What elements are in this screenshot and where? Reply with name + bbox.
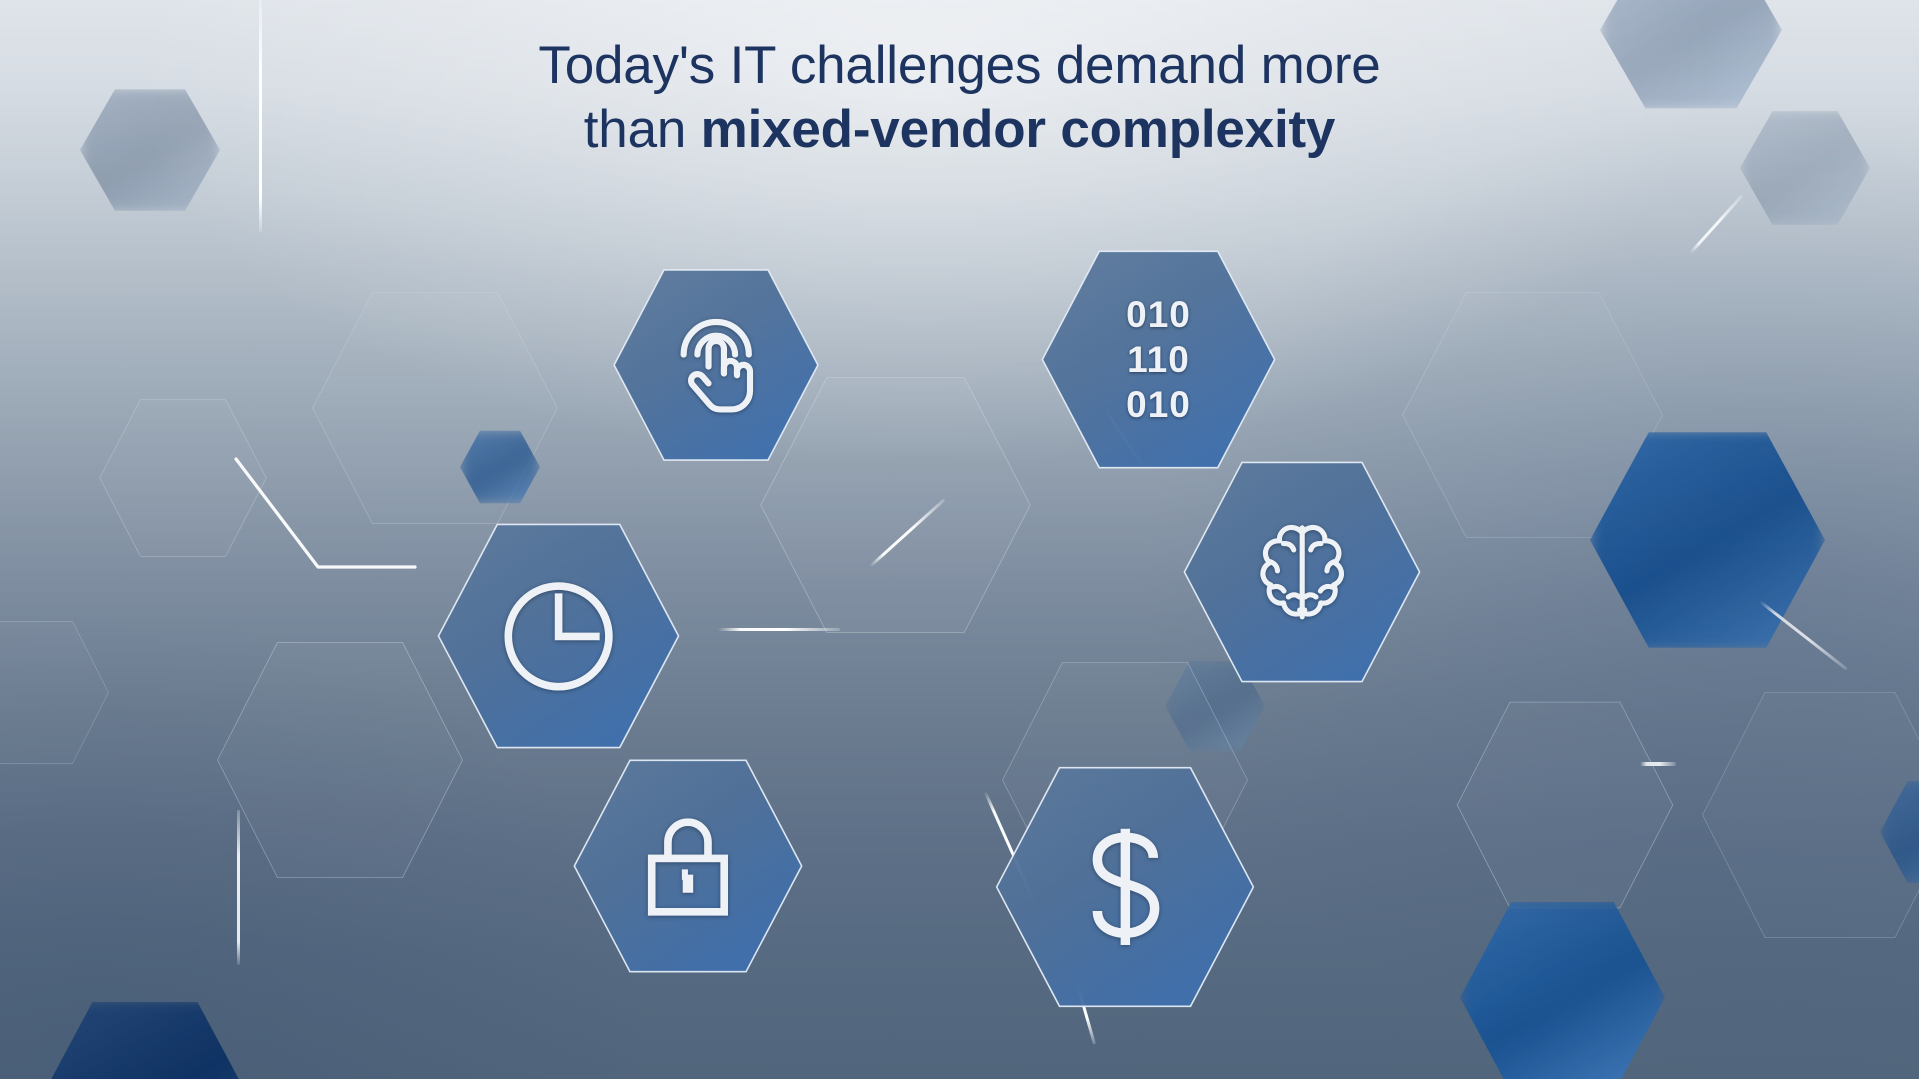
icon-hexagon-clock[interactable]	[436, 521, 681, 751]
icon-hexagon-binary[interactable]: 010 110 010	[1040, 248, 1277, 471]
background-hexagon-filled	[40, 1000, 250, 1079]
headline-line-2: than mixed-vendor complexity	[0, 98, 1919, 162]
hexagon-plate	[1182, 459, 1422, 685]
horizontal-streak-right	[1640, 762, 1676, 766]
hexagon-plate	[436, 521, 681, 751]
horizontal-streak-center	[718, 628, 840, 631]
icon-hexagon-lock[interactable]	[572, 757, 804, 975]
headline: Today's IT challenges demand more than m…	[0, 34, 1919, 161]
vertical-line-bottom-left	[237, 810, 240, 965]
hexagon-plate	[612, 267, 820, 463]
background-hexagon-outline	[0, 620, 110, 765]
icon-hexagon-dollar[interactable]	[994, 764, 1256, 1010]
background-hexagon-outline	[1455, 700, 1675, 910]
hexagon-plate	[994, 764, 1256, 1010]
background-hexagon-outline	[1700, 690, 1919, 940]
icon-hexagon-touch[interactable]	[612, 267, 820, 463]
icon-hexagon-brain[interactable]	[1182, 459, 1422, 685]
diagonal-streak-upper-right	[1689, 195, 1743, 255]
headline-line-2-prefix: than	[584, 100, 701, 159]
headline-emphasis: mixed-vendor complexity	[701, 100, 1336, 159]
hexagon-plate	[1040, 248, 1277, 471]
background-hexagon-filled	[1460, 900, 1665, 1079]
slide-canvas: 010 110 010 Today's IT challenges demand…	[0, 0, 1919, 1079]
headline-line-1: Today's IT challenges demand more	[0, 34, 1919, 98]
background-hexagon-outline	[215, 640, 465, 880]
hexagon-plate	[572, 757, 804, 975]
